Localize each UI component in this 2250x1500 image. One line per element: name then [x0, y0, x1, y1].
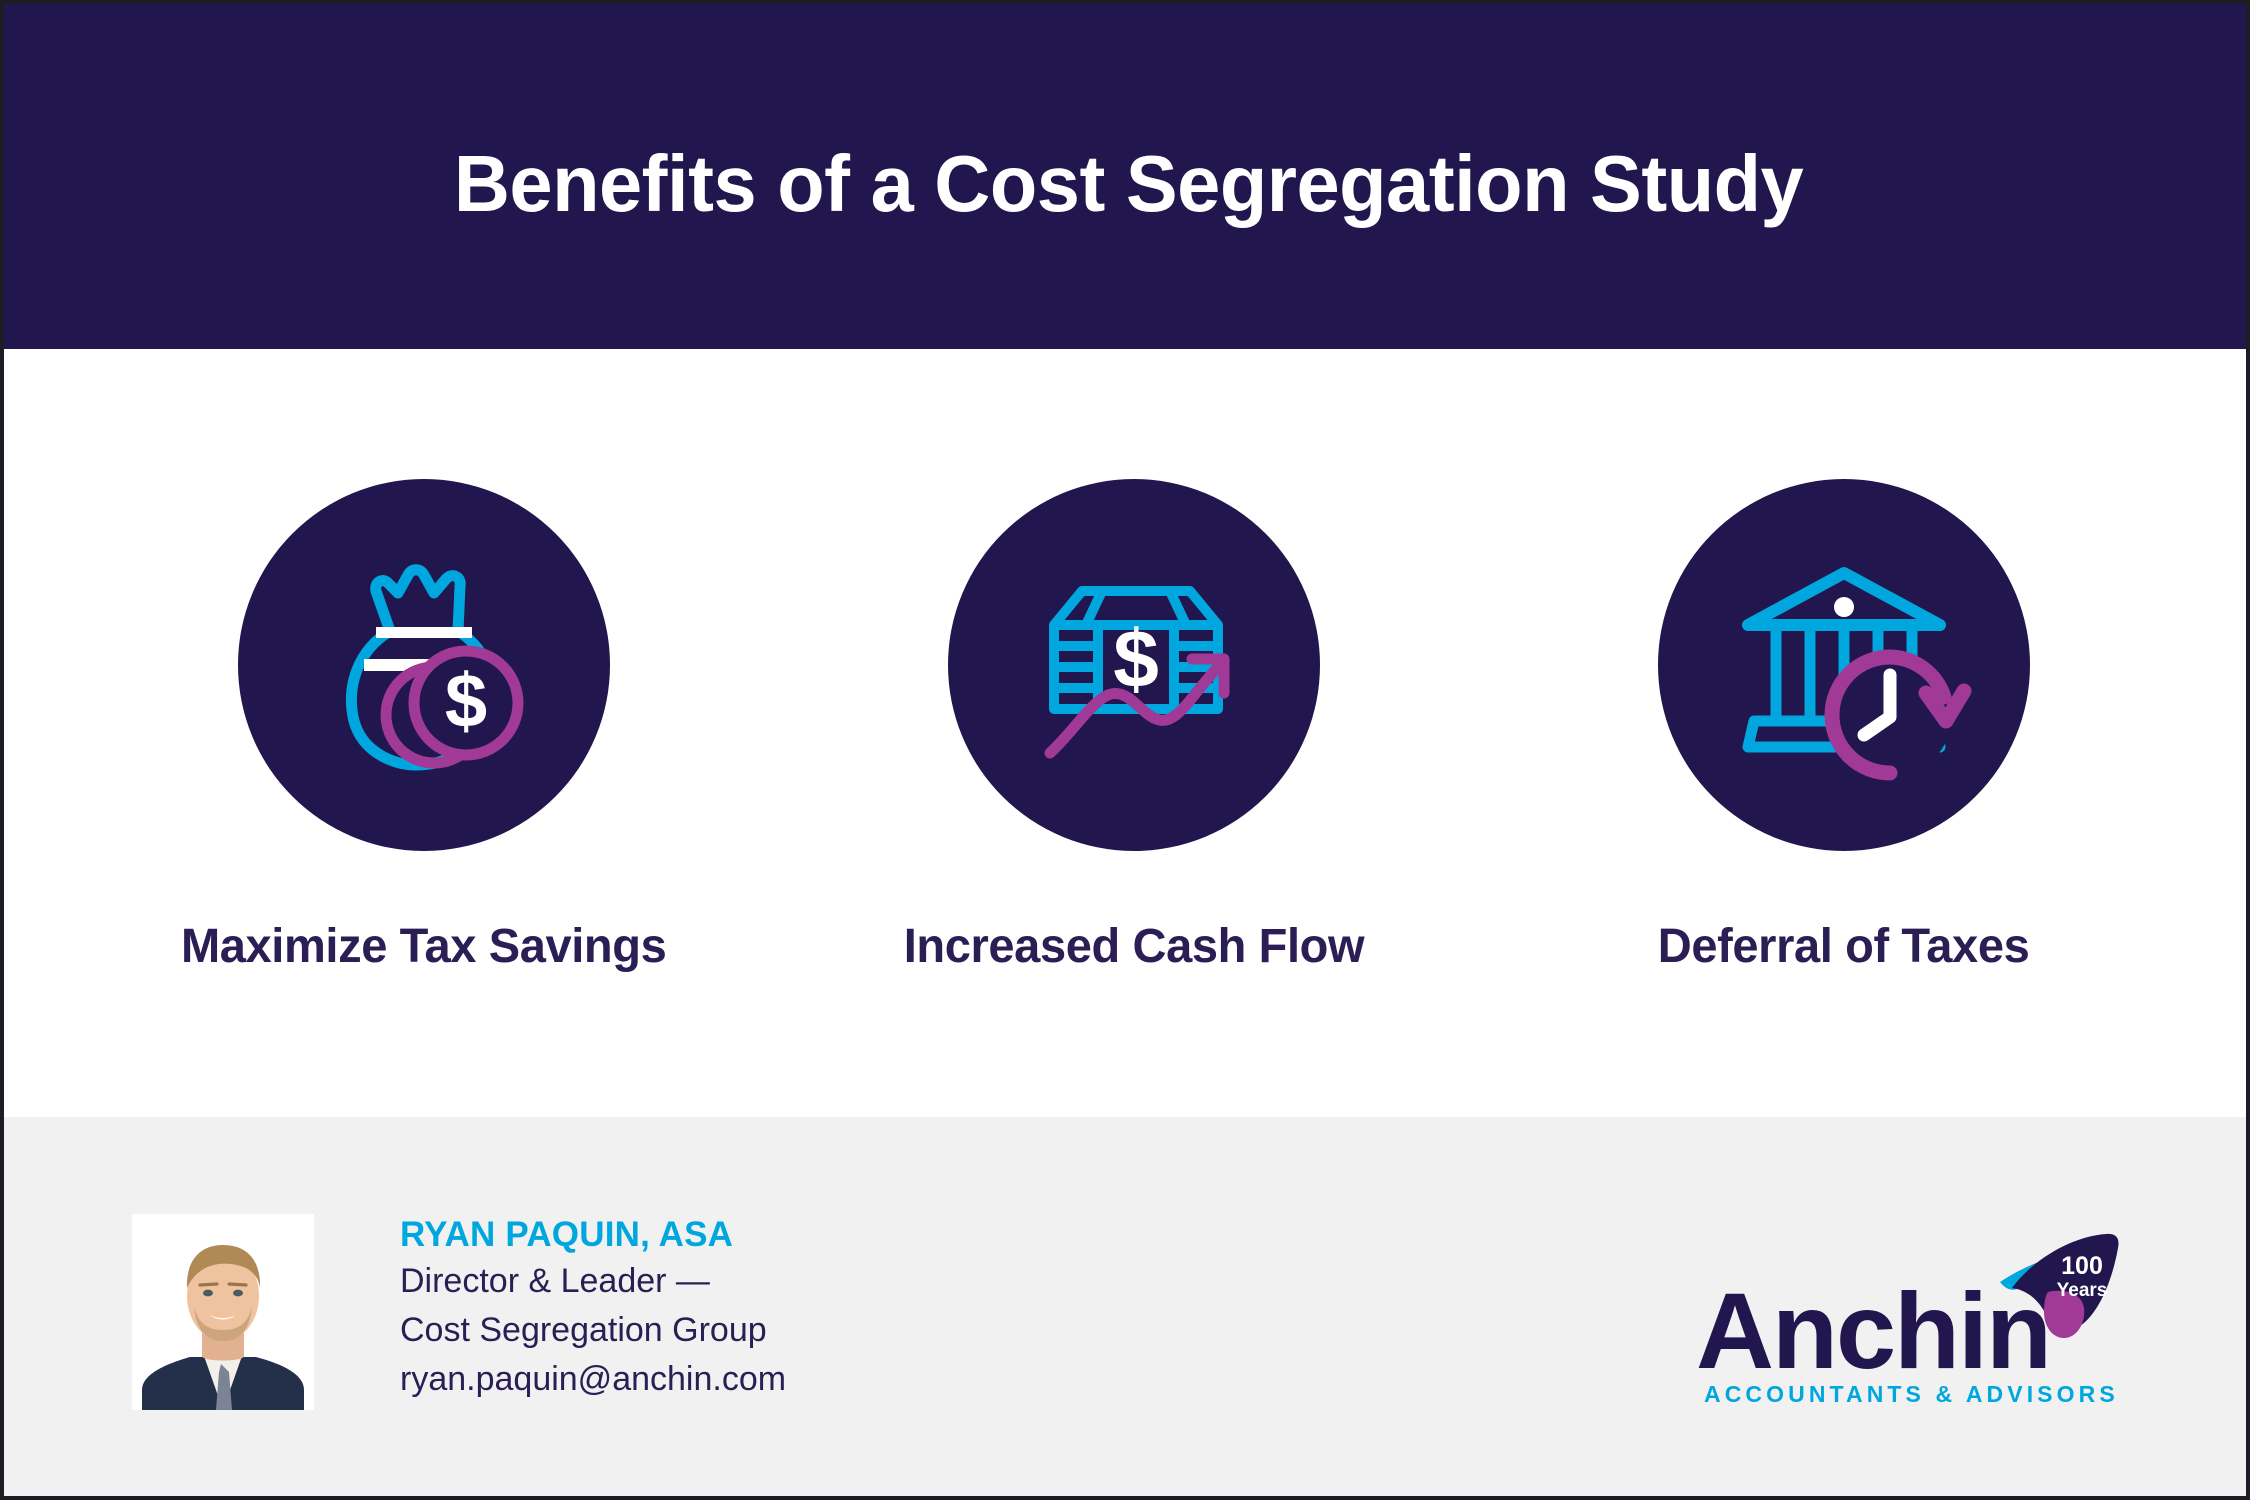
anchin-logo: 100 Years Anchin ACCOUNTANTS & ADVISORS [1682, 1222, 2122, 1422]
cash-stack-with-growth-arrow-icon: $ [1004, 535, 1264, 795]
contact-title-line-1: Director & Leader — [400, 1259, 786, 1303]
contact-email[interactable]: ryan.paquin@anchin.com [400, 1357, 786, 1401]
icon-circle-2: $ [948, 479, 1320, 851]
header-band: Benefits of a Cost Segregation Study [4, 4, 2250, 349]
icon-circle-3 [1658, 479, 2030, 851]
money-bag-with-coins-icon: $ [294, 535, 554, 795]
bank-building-with-clock-icon [1714, 535, 1974, 795]
contact-title-line-2: Cost Segregation Group [400, 1308, 786, 1352]
icon-circle-1: $ [238, 479, 610, 851]
logo-wordmark: Anchin [1696, 1270, 2050, 1391]
contact-name: RYAN PAQUIN, ASA [400, 1217, 786, 1254]
logo-tagline: ACCOUNTANTS & ADVISORS [1704, 1381, 2119, 1407]
benefit-label-2: Increased Cash Flow [904, 919, 1365, 974]
page-title: Benefits of a Cost Segregation Study [454, 138, 1803, 230]
benefit-item-increased-cash-flow: $ Increased Cash Flow [854, 479, 1414, 974]
benefit-label-3: Deferral of Taxes [1658, 919, 2030, 974]
benefits-section: $ Maximize Tax Savings [4, 349, 2250, 1117]
anchin-logo-icon: 100 Years Anchin ACCOUNTANTS & ADVISORS [1682, 1222, 2122, 1422]
badge-100-text: 100 [2061, 1252, 2103, 1280]
benefit-item-deferral-of-taxes: Deferral of Taxes [1564, 479, 2124, 974]
svg-text:$: $ [445, 659, 487, 744]
benefit-label-1: Maximize Tax Savings [181, 919, 666, 974]
headshot-photo-icon [132, 1214, 314, 1410]
footer-band: RYAN PAQUIN, ASA Director & Leader — Cos… [4, 1117, 2250, 1500]
benefit-item-maximize-tax-savings: $ Maximize Tax Savings [144, 479, 704, 974]
badge-years-text: Years [2057, 1280, 2108, 1301]
infographic-poster: Benefits of a Cost Segregation Study [0, 0, 2250, 1500]
avatar [132, 1214, 314, 1410]
contact-block: RYAN PAQUIN, ASA Director & Leader — Cos… [400, 1217, 786, 1401]
